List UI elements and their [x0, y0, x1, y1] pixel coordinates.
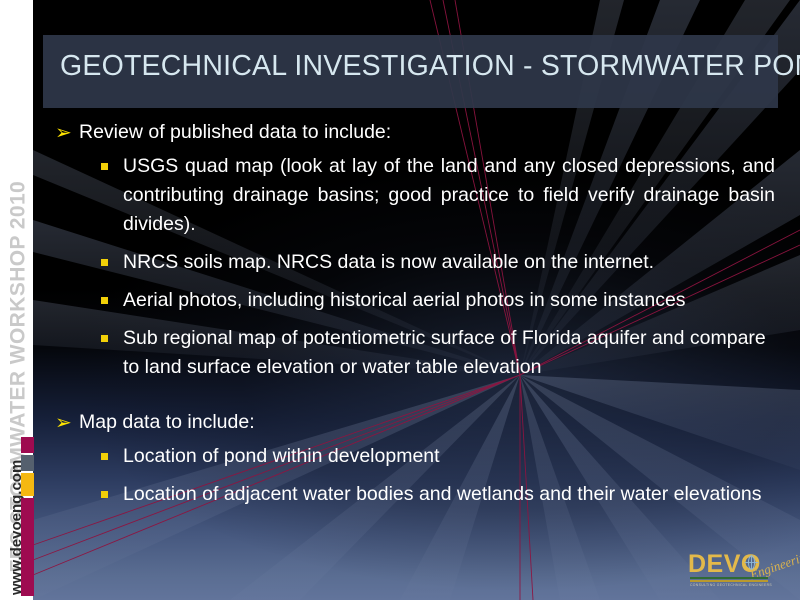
bullet-level2: Location of pond within development	[55, 442, 775, 471]
slide-body: ➢ Review of published data to include: U…	[55, 118, 775, 518]
bullet-level2: Sub regional map of potentiometric surfa…	[55, 324, 775, 382]
section-spacer	[55, 391, 775, 408]
accent-bar-slate	[21, 455, 34, 471]
bullet-level1: ➢ Review of published data to include:	[55, 118, 775, 146]
bullet-level2: Aerial photos, including historical aeri…	[55, 286, 775, 315]
arrow-bullet-icon: ➢	[55, 408, 79, 436]
square-bullet-icon	[101, 286, 123, 304]
bullet-level2-text: Sub regional map of potentiometric surfa…	[123, 324, 775, 382]
bullet-level1-text: Map data to include:	[79, 408, 775, 436]
bullet-level2-text: Location of pond within development	[123, 442, 775, 471]
bullet-level2: USGS quad map (look at lay of the land a…	[55, 152, 775, 239]
accent-bar-magenta-bottom	[21, 498, 34, 596]
arrow-bullet-icon: ➢	[55, 118, 79, 146]
slide-canvas: GEOTECHNICAL INVESTIGATION - STORMWATER …	[0, 0, 800, 600]
bullet-level2-text: Location of adjacent water bodies and we…	[123, 480, 775, 509]
accent-bar-magenta-top	[21, 437, 34, 453]
devo-logo: DEVO Engineering CONSULTING GEOTECHNICAL…	[688, 548, 792, 594]
logo-tagline: CONSULTING GEOTECHNICAL ENGINEERS	[690, 583, 774, 587]
square-bullet-icon	[101, 442, 123, 460]
logo-rule-green	[690, 577, 768, 579]
bullet-level2: NRCS soils map. NRCS data is now availab…	[55, 248, 775, 277]
logo-rule-gold	[690, 580, 768, 582]
bullet-level2-text: USGS quad map (look at lay of the land a…	[123, 152, 775, 239]
bullet-level1-text: Review of published data to include:	[79, 118, 775, 146]
left-sidebar: FES STORMWATER WORKSHOP 2010 www.devoeng…	[0, 0, 33, 600]
bullet-level2: Location of adjacent water bodies and we…	[55, 480, 775, 509]
square-bullet-icon	[101, 248, 123, 266]
square-bullet-icon	[101, 480, 123, 498]
accent-bar-gold	[21, 473, 34, 496]
square-bullet-icon	[101, 152, 123, 170]
bullet-level1: ➢ Map data to include:	[55, 408, 775, 436]
page-title: GEOTECHNICAL INVESTIGATION - STORMWATER …	[60, 50, 800, 83]
square-bullet-icon	[101, 324, 123, 342]
bullet-level2-text: NRCS soils map. NRCS data is now availab…	[123, 248, 775, 277]
bullet-level2-text: Aerial photos, including historical aeri…	[123, 286, 775, 315]
